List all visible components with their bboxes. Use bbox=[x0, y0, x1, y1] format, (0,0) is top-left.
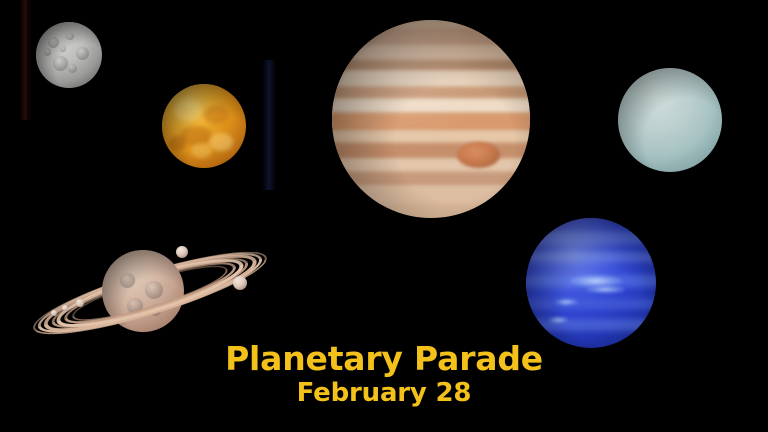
mercury-crater bbox=[60, 46, 66, 52]
neptune-cloud-streak bbox=[555, 299, 578, 306]
venus-cloud bbox=[191, 143, 213, 158]
saturn-moon bbox=[62, 305, 68, 311]
venus-cloud bbox=[204, 106, 229, 124]
planet-mercury bbox=[36, 22, 102, 88]
saturn-moon bbox=[233, 276, 247, 290]
neptune-cloud-streak bbox=[549, 317, 567, 324]
jupiter-band bbox=[332, 60, 530, 72]
jupiter-band bbox=[332, 71, 530, 87]
jupiter-band bbox=[332, 87, 530, 99]
neptune-cloud-streak bbox=[570, 275, 622, 287]
planet-jupiter bbox=[332, 20, 530, 218]
jupiter-band bbox=[332, 186, 530, 204]
planetary-parade-scene: Planetary Parade February 28 bbox=[0, 0, 768, 432]
venus-cloud bbox=[209, 133, 233, 151]
page-subtitle: February 28 bbox=[0, 378, 768, 408]
neptune-cloud-streak bbox=[586, 286, 625, 294]
mercury-crater bbox=[53, 56, 68, 71]
jupiter-band bbox=[332, 113, 530, 131]
page-title: Planetary Parade bbox=[0, 340, 768, 378]
neptune-band bbox=[526, 299, 656, 309]
neptune-band bbox=[526, 231, 656, 244]
jupiter-band bbox=[332, 172, 530, 186]
jupiter-great-red-spot bbox=[457, 142, 501, 168]
mercury-crater bbox=[48, 37, 59, 48]
mercury-crater bbox=[68, 64, 77, 73]
mercury-crater bbox=[76, 47, 89, 60]
jupiter-band bbox=[332, 46, 530, 60]
title-block: Planetary Parade February 28 bbox=[0, 340, 768, 408]
background-seam-left bbox=[20, 0, 32, 120]
background-seam-center bbox=[262, 60, 276, 190]
jupiter-band bbox=[332, 131, 530, 143]
planet-venus bbox=[162, 84, 246, 168]
venus-cloud bbox=[174, 99, 203, 121]
jupiter-band bbox=[332, 99, 530, 113]
uranus-terminator-shading bbox=[618, 68, 722, 172]
venus-cloud bbox=[169, 136, 186, 151]
planet-uranus bbox=[618, 68, 722, 172]
jupiter-band bbox=[332, 28, 530, 46]
mercury-crater bbox=[44, 48, 51, 55]
saturn-moon bbox=[176, 246, 188, 258]
jupiter-band bbox=[332, 143, 530, 159]
jupiter-band bbox=[332, 159, 530, 173]
neptune-band bbox=[526, 319, 656, 331]
saturn-moon bbox=[51, 310, 57, 316]
mercury-crater bbox=[66, 33, 74, 41]
planet-neptune bbox=[526, 218, 656, 348]
neptune-band bbox=[526, 252, 656, 262]
saturn-moon bbox=[76, 299, 84, 307]
